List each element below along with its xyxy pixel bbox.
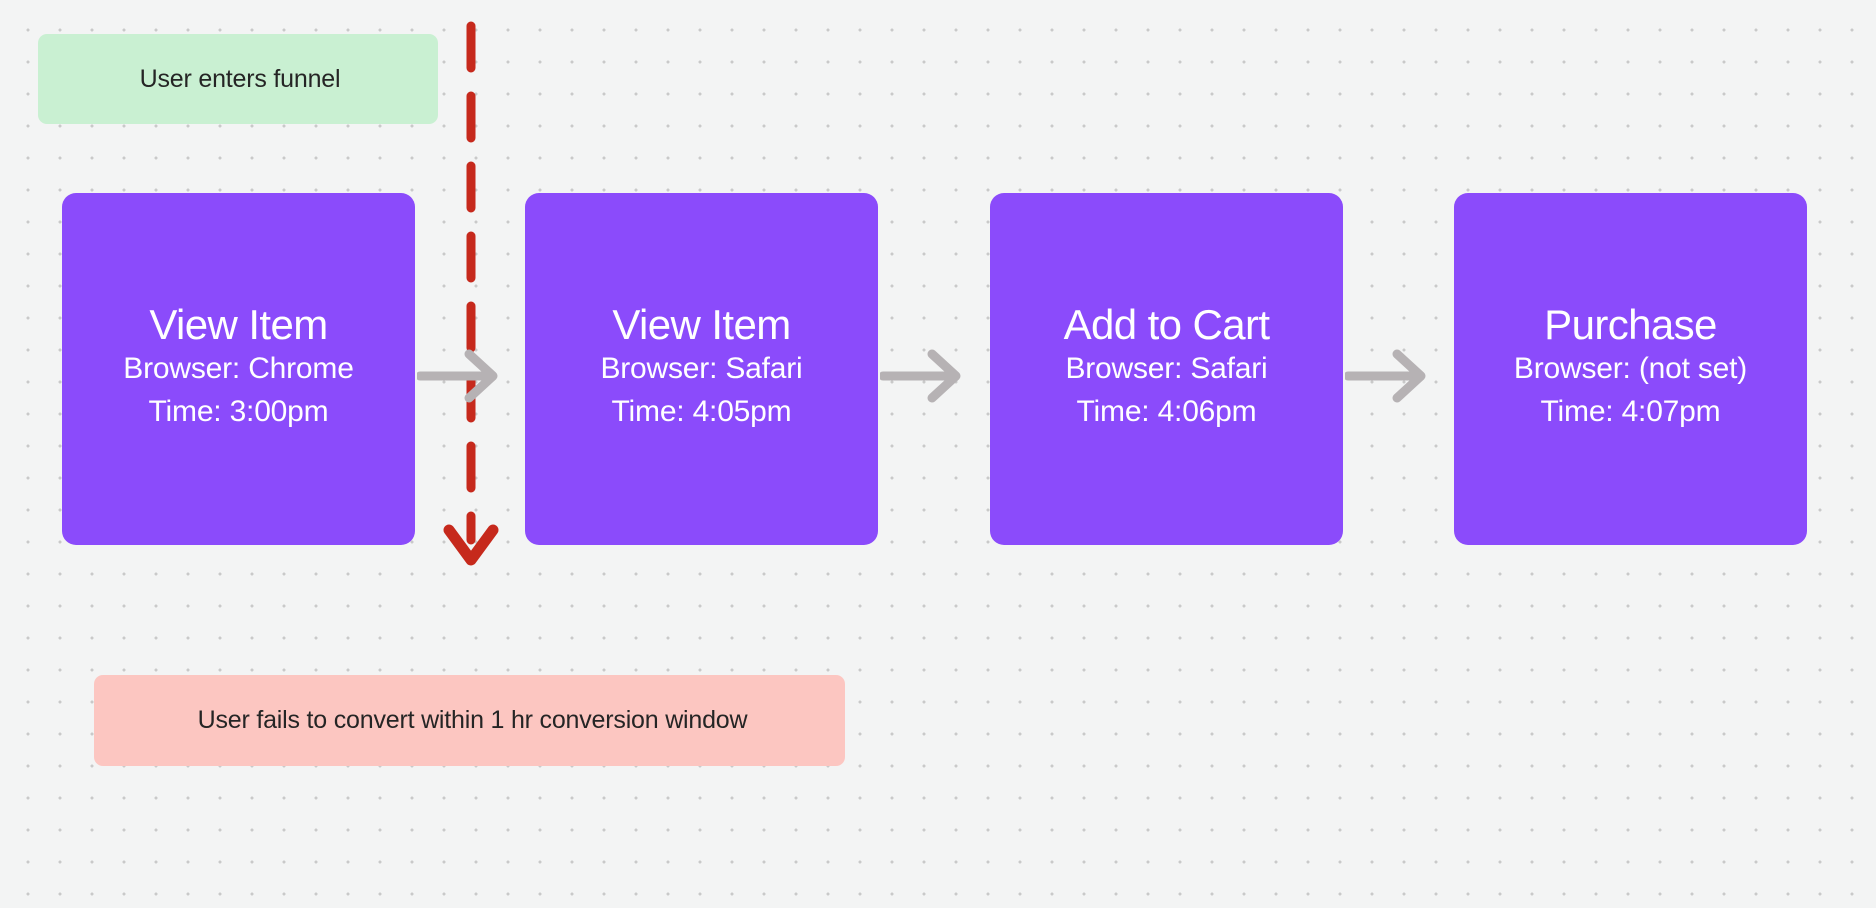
- annotation-failure-label: User fails to convert within 1 hr conver…: [198, 706, 748, 735]
- diagram-canvas: User enters funnel User fails to convert…: [0, 0, 1876, 908]
- event-card-view-item-chrome[interactable]: View Item Browser: Chrome Time: 3:00pm: [62, 193, 415, 545]
- event-card-time: Time: 4:05pm: [612, 391, 792, 434]
- event-card-time: Time: 4:06pm: [1077, 391, 1257, 434]
- event-card-title: Purchase: [1544, 303, 1717, 347]
- annotation-entry-label: User enters funnel: [140, 65, 341, 94]
- event-card-browser: Browser: (not set): [1514, 348, 1747, 391]
- conversion-window-dashed-line: [440, 20, 502, 660]
- event-card-title: Add to Cart: [1064, 303, 1270, 347]
- annotation-entry-box: User enters funnel: [38, 34, 438, 124]
- flow-arrow-right-icon: [1345, 348, 1429, 404]
- flow-arrow-right-icon: [417, 348, 501, 404]
- event-card-title: View Item: [612, 303, 790, 347]
- event-card-browser: Browser: Chrome: [123, 348, 353, 391]
- event-card-browser: Browser: Safari: [1065, 348, 1267, 391]
- event-card-browser: Browser: Safari: [600, 348, 802, 391]
- event-card-add-to-cart[interactable]: Add to Cart Browser: Safari Time: 4:06pm: [990, 193, 1343, 545]
- event-card-time: Time: 4:07pm: [1541, 391, 1721, 434]
- annotation-failure-box: User fails to convert within 1 hr conver…: [94, 675, 845, 766]
- event-card-purchase[interactable]: Purchase Browser: (not set) Time: 4:07pm: [1454, 193, 1807, 545]
- flow-arrow-right-icon: [880, 348, 964, 404]
- event-card-time: Time: 3:00pm: [149, 391, 329, 434]
- event-card-view-item-safari[interactable]: View Item Browser: Safari Time: 4:05pm: [525, 193, 878, 545]
- event-card-title: View Item: [149, 303, 327, 347]
